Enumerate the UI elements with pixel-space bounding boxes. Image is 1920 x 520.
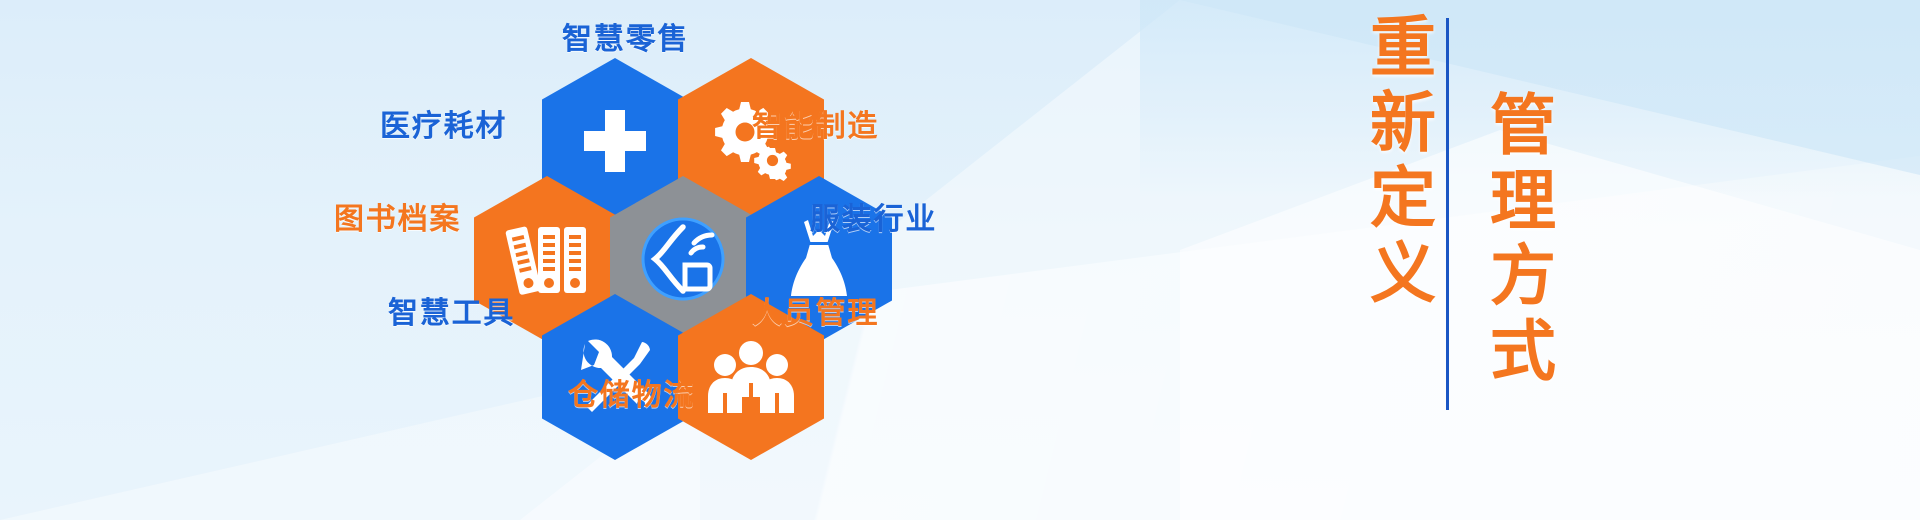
slogan-block: 重新定义 管理方式 xyxy=(1280,0,1680,520)
label-manufacturing: 智能制造 xyxy=(752,101,879,145)
slogan-column-management: 管理方式 xyxy=(1470,90,1566,391)
slogan-divider xyxy=(1446,18,1449,410)
industry-solutions-banner: 智慧零售 医疗耗材 智能制造 图书档案 服装行业 智慧工具 人员管理 仓储物流 … xyxy=(0,0,1920,520)
medical-cross-icon xyxy=(576,102,654,180)
label-books-archive: 图书档案 xyxy=(334,194,461,238)
label-storage-logistics: 仓储物流 xyxy=(568,370,695,414)
label-retail: 智慧零售 xyxy=(562,14,689,58)
label-apparel: 服装行业 xyxy=(810,194,937,238)
binders-archive-icon xyxy=(504,219,590,299)
slogan-column-redefine: 重新定义 xyxy=(1350,12,1446,313)
brand-logo-icon xyxy=(639,215,727,303)
label-medical: 医疗耗材 xyxy=(380,101,507,145)
people-group-icon xyxy=(707,339,795,415)
label-people-mgmt: 人员管理 xyxy=(752,288,879,332)
label-smart-tools: 智慧工具 xyxy=(388,288,515,332)
